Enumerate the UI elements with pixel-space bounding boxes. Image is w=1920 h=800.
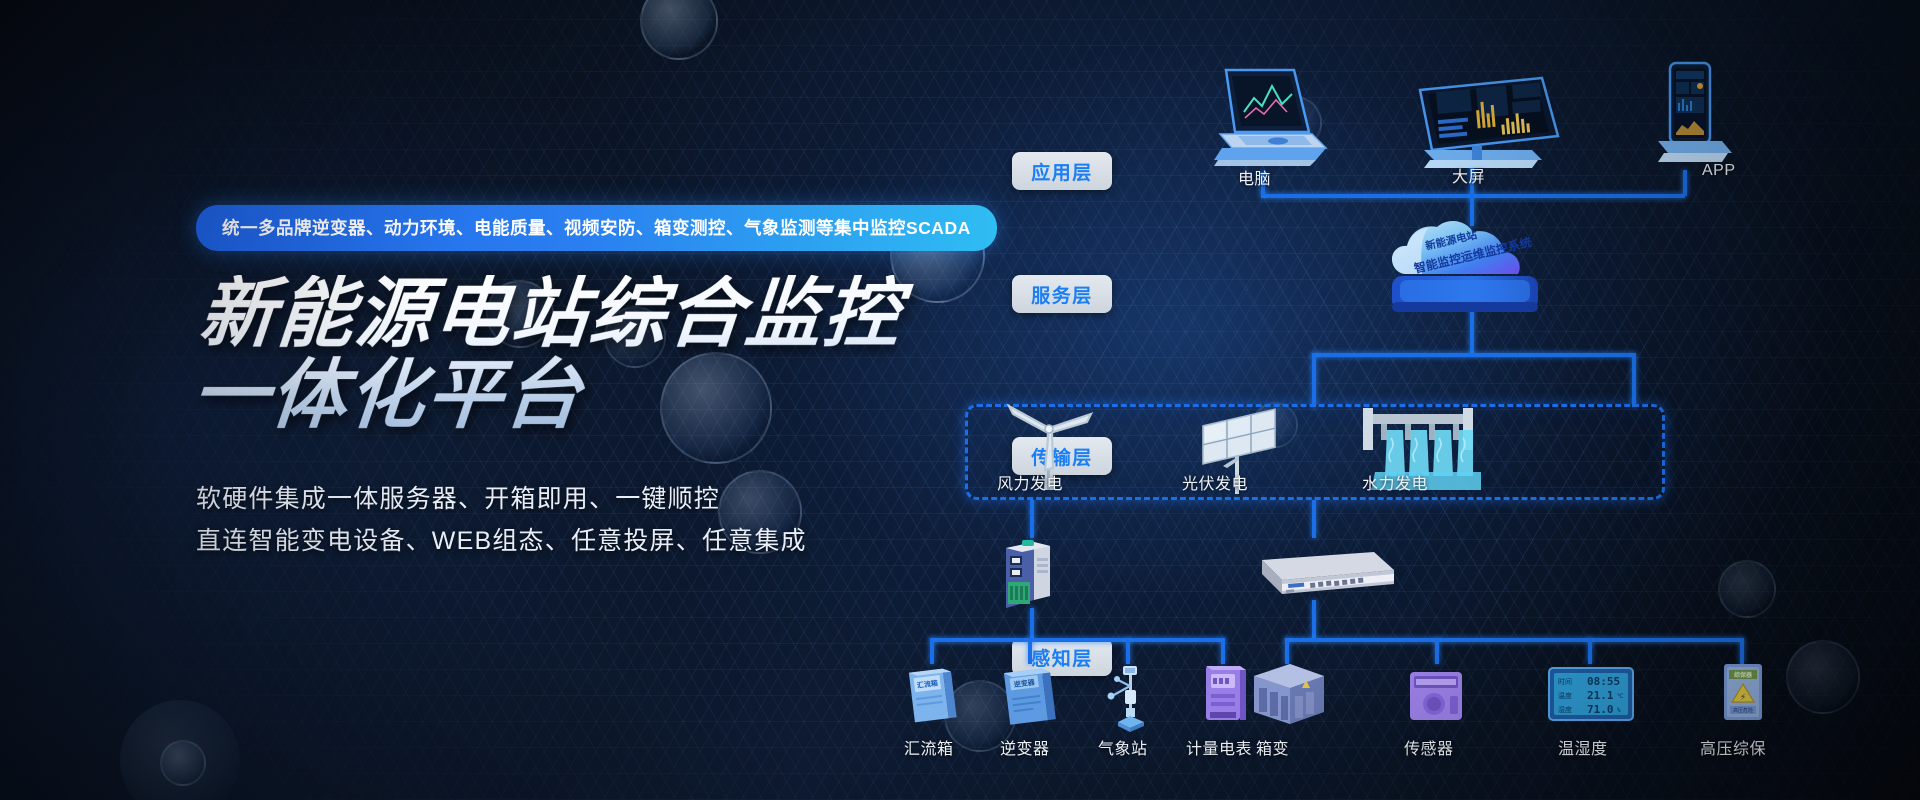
vignette-overlay	[0, 0, 1920, 800]
banner-stage: 统一多品牌逆变器、动力环境、电能质量、视频安防、箱变测控、气象监测等集中监控SC…	[0, 0, 1920, 800]
